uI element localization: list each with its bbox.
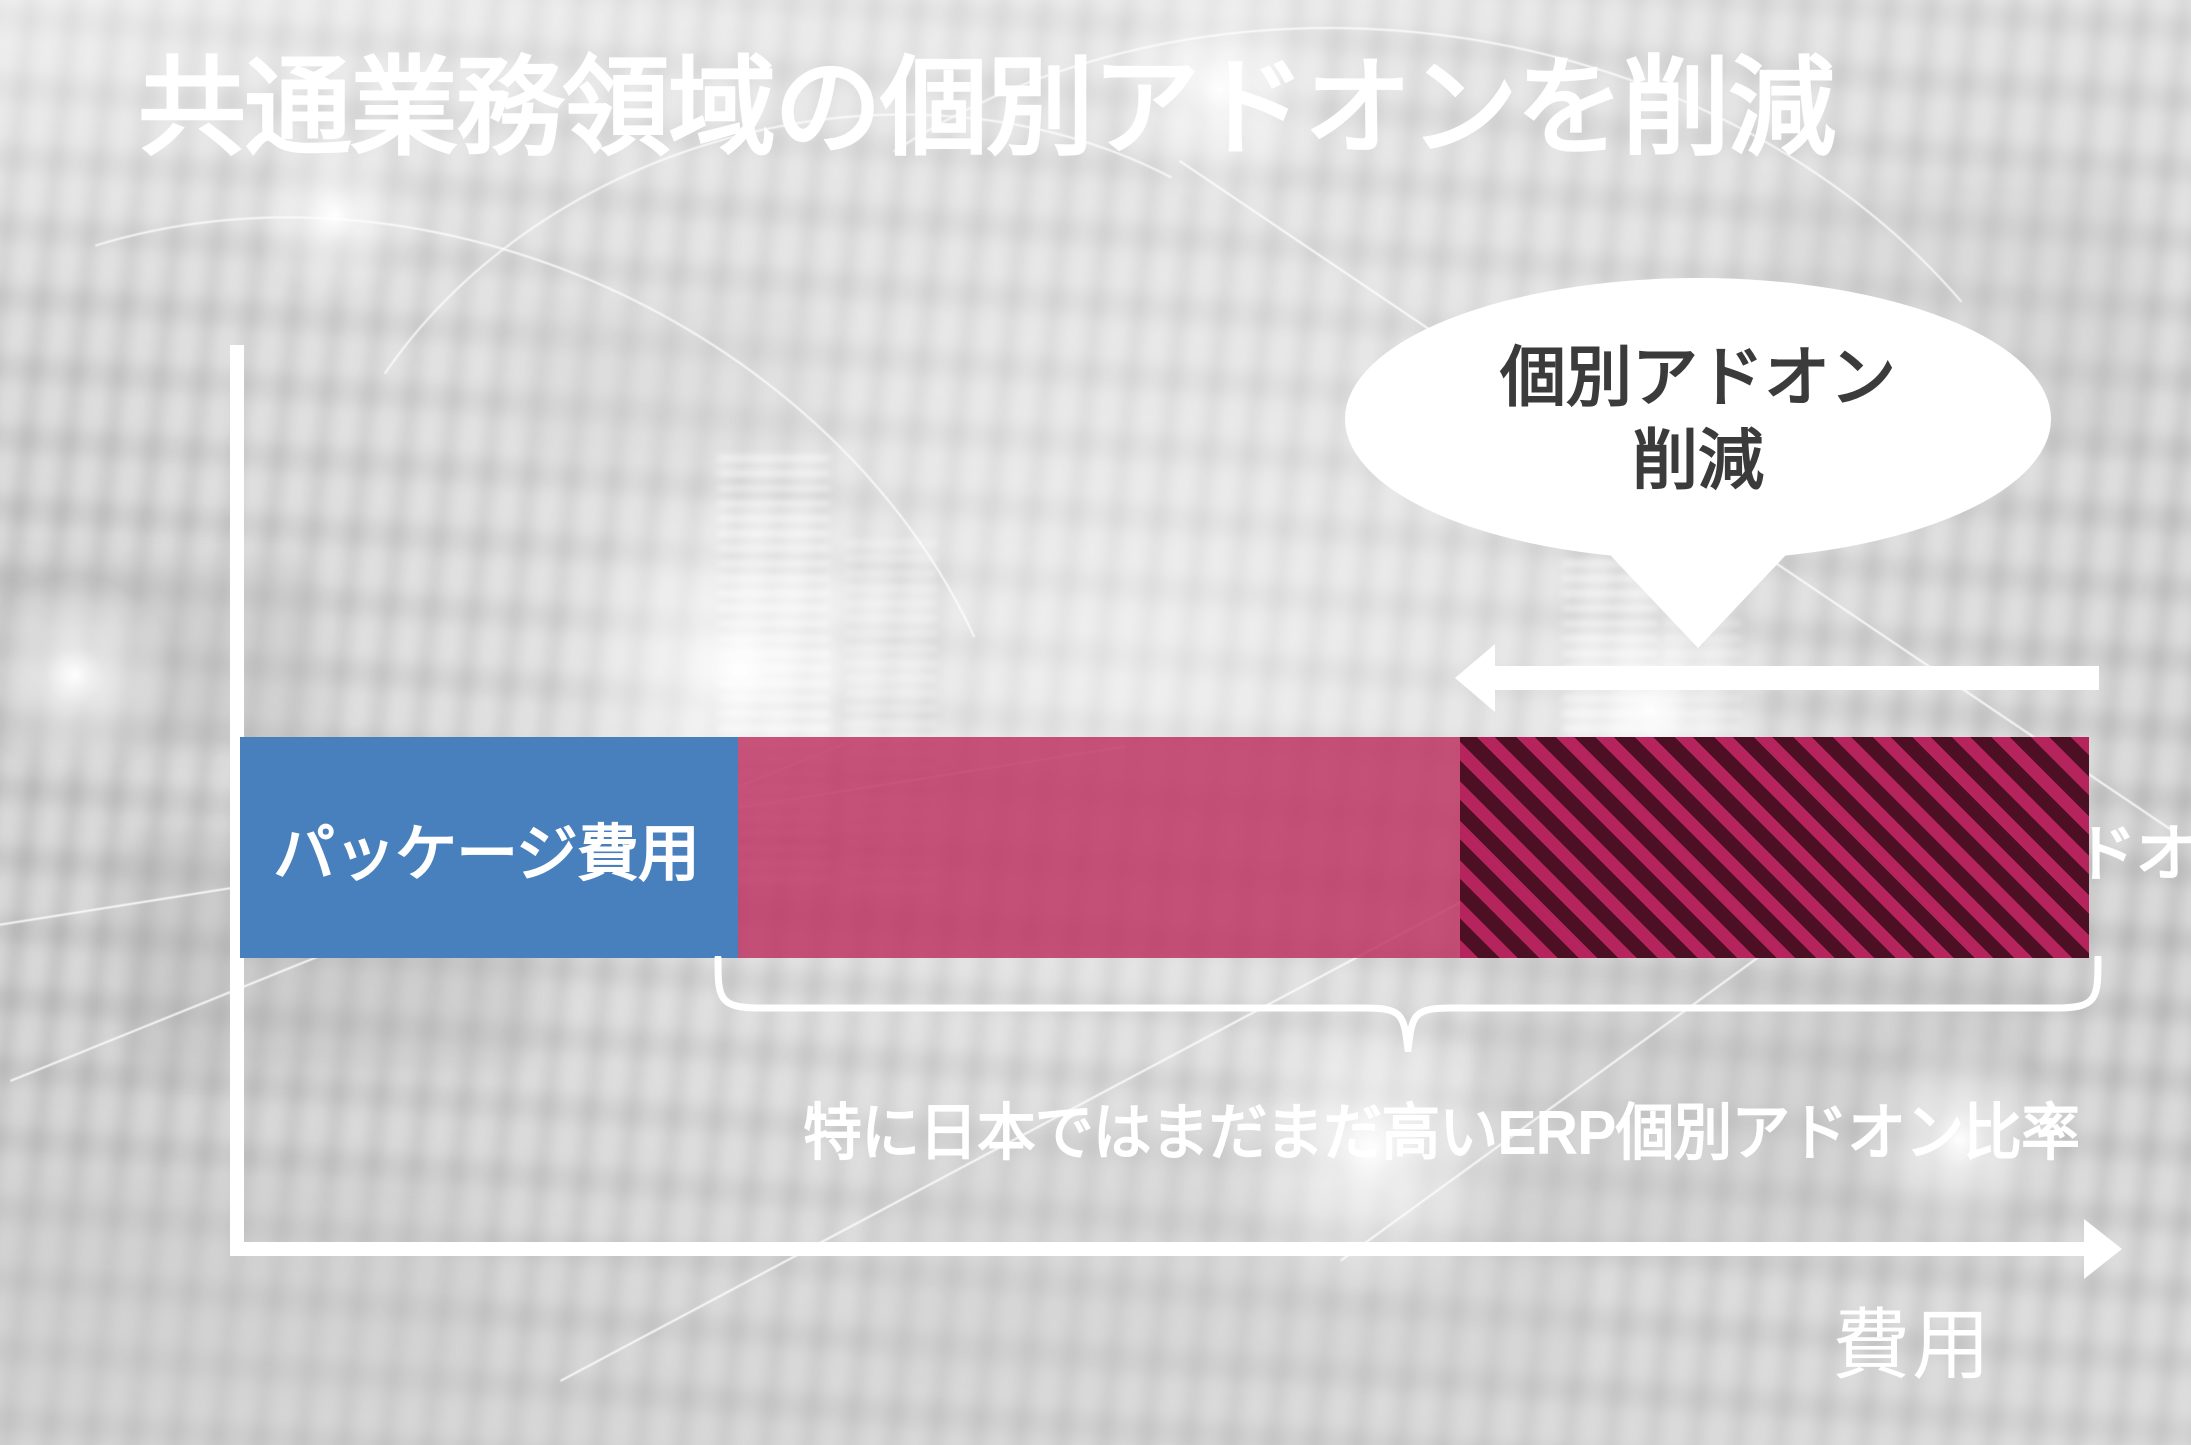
- page-title: 共通業務領域の個別アドオンを削減: [138, 48, 2098, 169]
- x-axis-label: 費用: [1832, 1283, 1992, 1395]
- brace-caption-text: 特に日本ではまだまだ高いERP個別アドオン比率: [803, 1082, 2057, 1172]
- addon-ratio-brace-icon: [712, 956, 2104, 1052]
- bar-segment-addon-reduction-hatched[interactable]: [1460, 737, 2089, 958]
- bar-segment-addon-cost[interactable]: 個別アドオン費用: [738, 737, 1460, 958]
- slide-canvas: 共通業務領域の個別アドオンを削減 費用 パッケージ費用 個別アドオン費用 特に日…: [0, 0, 2191, 1445]
- background-cityscape-image: [0, 0, 2191, 1445]
- reduction-arrow-shaft: [1487, 666, 2099, 690]
- callout-line-2: 削減: [1632, 419, 1764, 502]
- stacked-cost-bar: パッケージ費用 個別アドオン費用: [240, 737, 2089, 958]
- reduction-arrow-left-arrowhead-icon: [1455, 644, 1495, 712]
- bar-segment-package-cost[interactable]: パッケージ費用: [240, 737, 738, 958]
- x-axis-line: [230, 1242, 2090, 1256]
- callout-line-1: 個別アドオン: [1500, 336, 1896, 419]
- x-axis-arrowhead-icon: [2084, 1219, 2122, 1279]
- callout-bubble[interactable]: 個別アドオン 削減: [1345, 278, 2051, 560]
- bar-segment-package-label: パッケージ費用: [234, 803, 738, 893]
- callout-bubble-text: 個別アドオン 削減: [1345, 278, 2051, 560]
- background-white-overlay: [0, 0, 2191, 1445]
